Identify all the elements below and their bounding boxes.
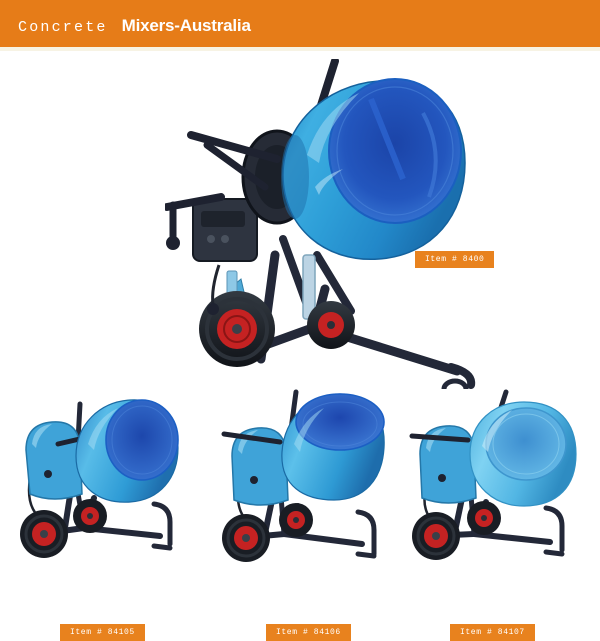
- item-badge-main: Item # 8400: [415, 251, 494, 268]
- mixer-drum-84106: [282, 394, 384, 500]
- mixer-drum-84107: [470, 402, 576, 506]
- page-title-prefix: Concrete: [18, 19, 108, 36]
- wheel-rear-84107: [467, 501, 501, 535]
- motor-housing-main: [193, 199, 257, 261]
- wheel-rear-main: [307, 301, 355, 349]
- page-header-banner: Concrete Mixers-Australia: [0, 0, 600, 47]
- item-badge-84105: Item # 84105: [60, 624, 145, 641]
- wheel-front-84107: [412, 512, 460, 560]
- page-title-brand: Mixers-Australia: [122, 16, 251, 36]
- mixer-drum-main: [281, 79, 465, 259]
- page-title: Concrete Mixers-Australia: [18, 16, 251, 36]
- product-gallery: Item # 8400: [0, 51, 600, 600]
- mixer-illustration-84107: [408, 386, 588, 566]
- wheel-rear-84105: [73, 499, 107, 533]
- product-image-84107[interactable]: Item # 84107: [408, 386, 588, 566]
- wheel-front-main: [199, 291, 275, 367]
- wheel-front-84106: [222, 514, 270, 562]
- item-badge-84106: Item # 84106: [266, 624, 351, 641]
- wheel-front-84105: [20, 510, 68, 558]
- product-image-main[interactable]: Item # 8400: [165, 59, 485, 389]
- product-image-84105[interactable]: Item # 84105: [18, 386, 198, 566]
- product-image-84106[interactable]: Item # 84106: [218, 386, 398, 566]
- mixer-drum-84105: [76, 400, 178, 502]
- item-badge-84107: Item # 84107: [450, 624, 535, 641]
- mixer-illustration-84106: [218, 386, 398, 566]
- mixer-illustration-main: [165, 59, 485, 389]
- mixer-illustration-84105: [18, 386, 198, 566]
- wheel-rear-84106: [279, 503, 313, 537]
